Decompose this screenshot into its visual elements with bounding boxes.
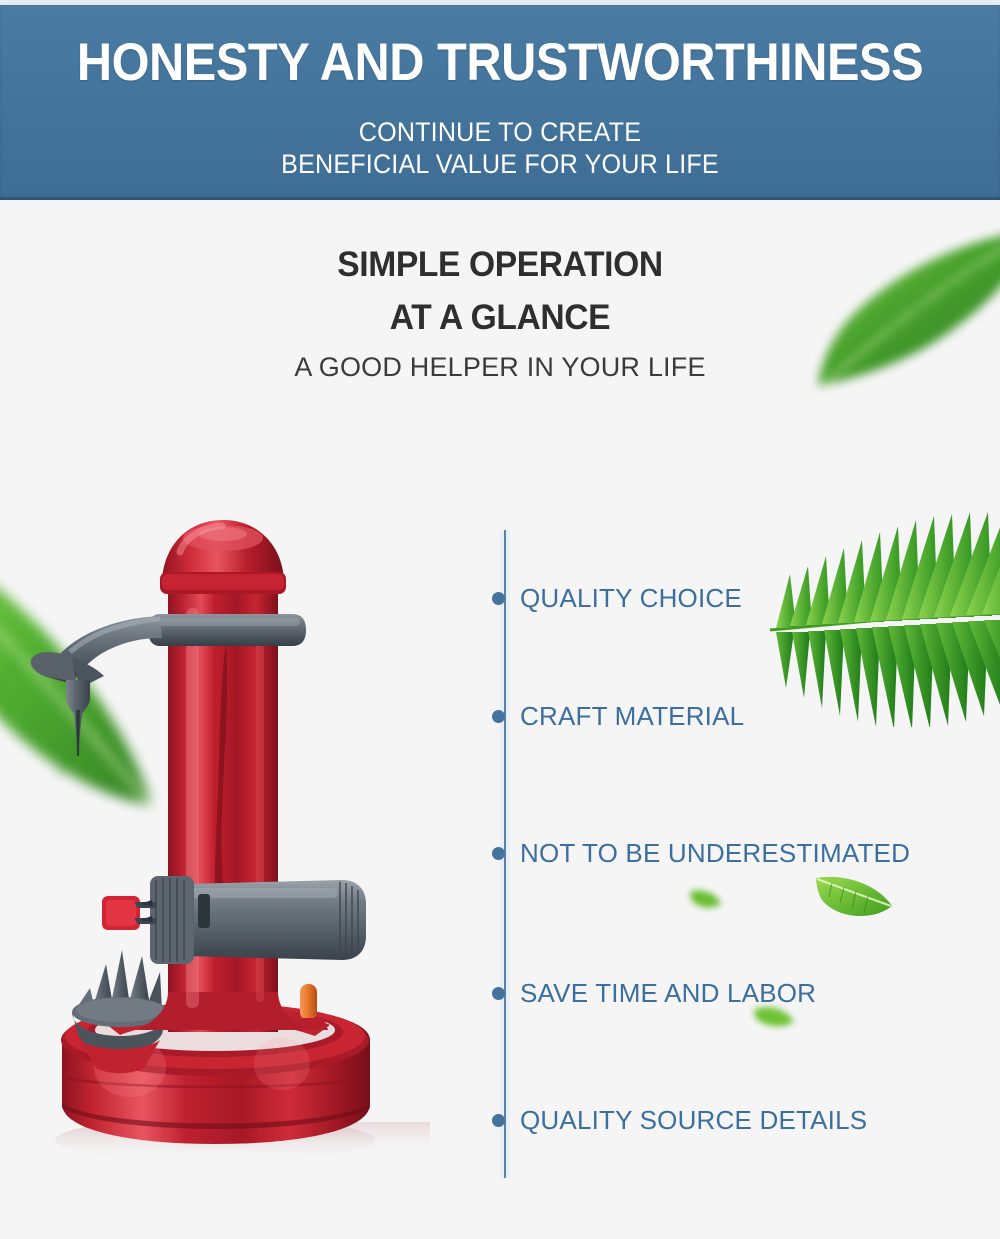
palm-frond-icon (762, 512, 1000, 727)
feature-item-save-time-and-labor[interactable]: SAVE TIME AND LABOR (492, 976, 816, 1010)
feature-item-not-to-be-underestimated[interactable]: NOT TO BE UNDERESTIMATED (492, 836, 910, 870)
feature-bullet-icon (492, 1114, 505, 1127)
falling-leaf-icon (688, 888, 722, 910)
feature-label: QUALITY CHOICE (520, 583, 742, 614)
fork-spikes (72, 950, 168, 1052)
feature-bullet-icon (492, 710, 505, 723)
feature-bullet-icon (492, 592, 505, 605)
feature-item-quality-source-details[interactable]: QUALITY SOURCE DETAILS (492, 1103, 867, 1137)
section-heading-line2: AT A GLANCE (20, 298, 980, 338)
banner-title: HONESTY AND TRUSTWORTHINESS (40, 35, 960, 90)
feature-label: SAVE TIME AND LABOR (520, 978, 816, 1009)
feature-bullet-icon (492, 847, 505, 860)
product-image-rotary-peeler (10, 512, 430, 1182)
header-banner: HONESTY AND TRUSTWORTHINESS CONTINUE TO … (0, 5, 1000, 200)
banana-leaf-icon (0, 505, 225, 815)
bottom-spacer (0, 1181, 1000, 1239)
peeler-handle (102, 876, 366, 964)
blade-arm (31, 614, 306, 756)
banner-subtitle-line1: CONTINUE TO CREATE (35, 117, 965, 148)
feature-bullet-icon (492, 987, 505, 1000)
section-subheading: A GOOD HELPER IN YOUR LIFE (0, 352, 1000, 383)
feature-label: NOT TO BE UNDERESTIMATED (520, 838, 910, 869)
feature-label: CRAFT MATERIAL (520, 701, 744, 732)
feature-item-craft-material[interactable]: CRAFT MATERIAL (492, 699, 744, 733)
falling-leaf-icon (812, 872, 896, 924)
feature-label: QUALITY SOURCE DETAILS (520, 1105, 867, 1136)
product-feature-page: HONESTY AND TRUSTWORTHINESS CONTINUE TO … (0, 0, 1000, 1239)
power-button (290, 984, 328, 1030)
feature-item-quality-choice[interactable]: QUALITY CHOICE (492, 581, 742, 615)
banner-subtitle-line2: BENEFICIAL VALUE FOR YOUR LIFE (35, 149, 965, 180)
section-heading-line1: SIMPLE OPERATION (20, 245, 980, 285)
